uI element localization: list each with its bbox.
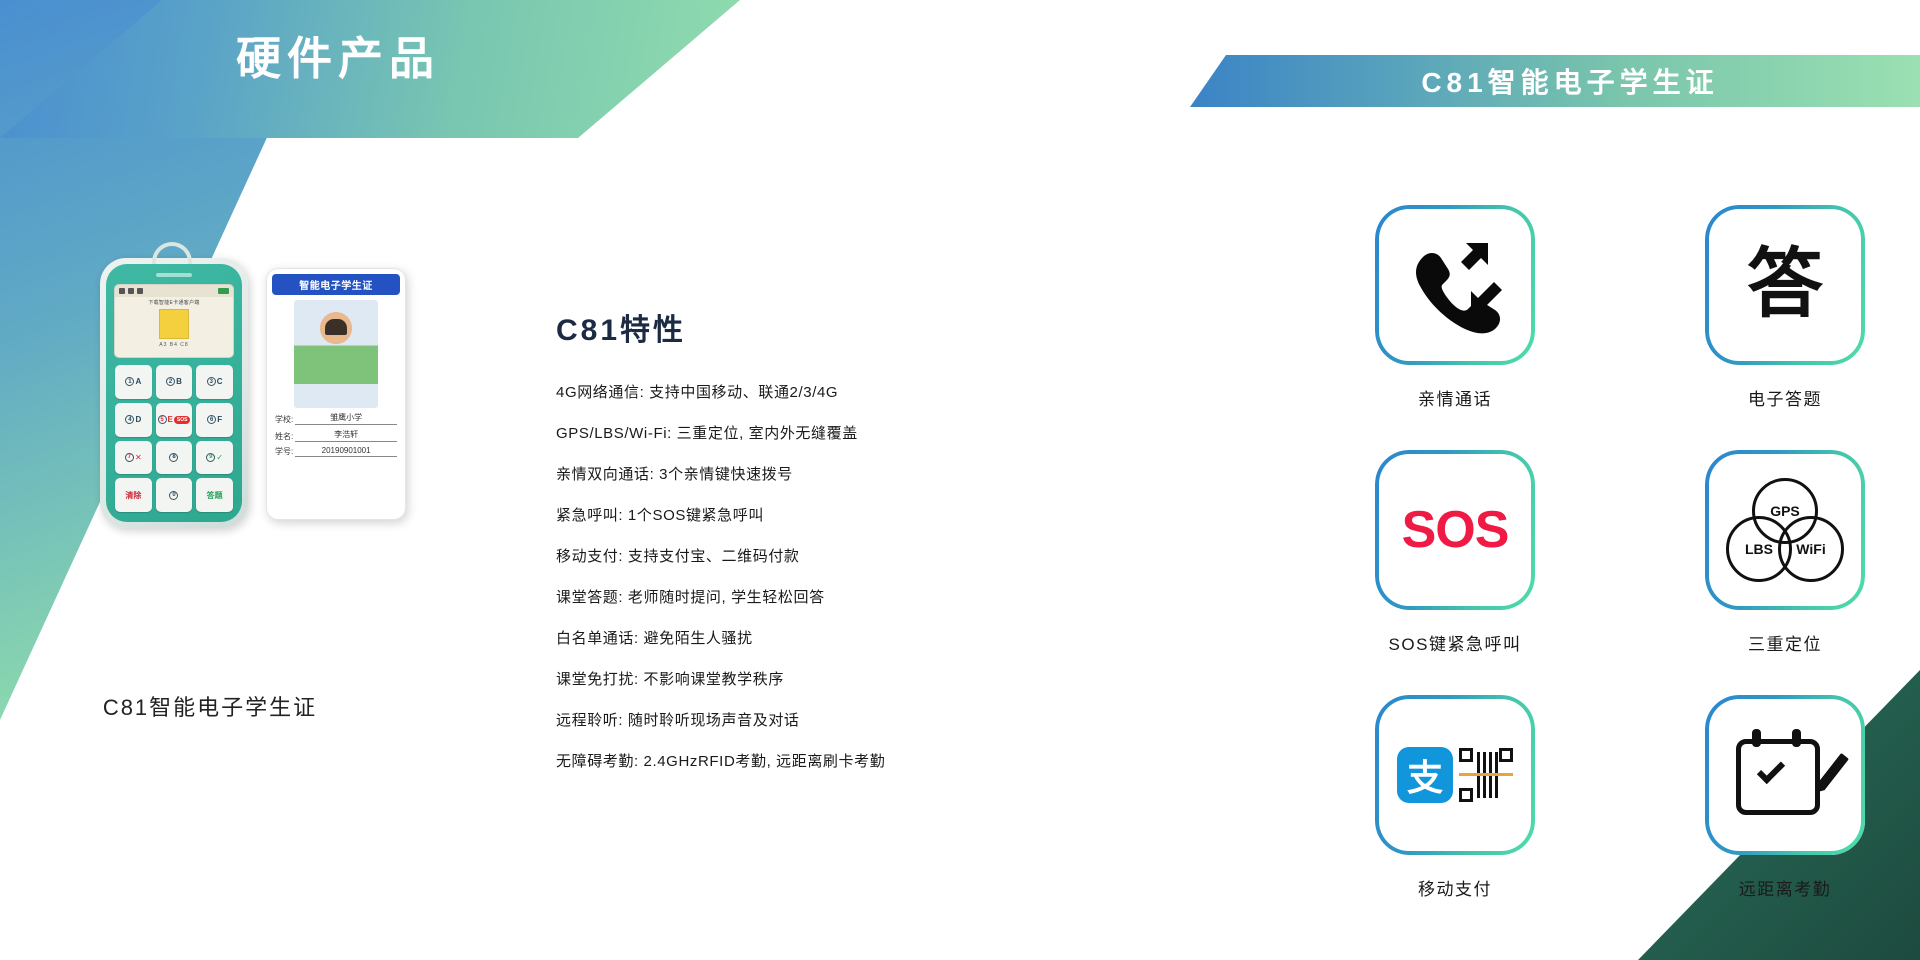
speaker-grill (156, 273, 192, 277)
key-2[interactable]: 2B (156, 365, 193, 399)
mobile-payment-icon: 支 (1397, 747, 1513, 803)
feature-icon-grid: 亲情通话 答 电子答题 SOS SOS键紧急呼叫 GPS LBS WiFi 三重… (1290, 205, 1920, 940)
signal-icon (119, 288, 125, 294)
icon-card[interactable]: SOS (1375, 450, 1535, 610)
icon-card[interactable]: 支 (1375, 695, 1535, 855)
phone-call-icon (1403, 235, 1507, 335)
icon-card[interactable]: GPS LBS WiFi (1705, 450, 1865, 610)
battery-icon (218, 288, 229, 294)
feature-item: 白名单通话: 避免陌生人骚扰 (556, 631, 1016, 646)
screen-caption: 下载智能E卡通客户端 (115, 299, 233, 306)
triple-location-icon: GPS LBS WiFi (1726, 478, 1844, 582)
key-8[interactable]: 8 (156, 441, 193, 475)
icon-cell-payment[interactable]: 支 移动支付 (1290, 695, 1620, 940)
features-title: C81特性 (556, 305, 1016, 349)
venn-wifi: WiFi (1778, 516, 1844, 582)
id-card-row-school: 学校: 雏鹰小学 (275, 412, 397, 425)
key-9[interactable]: 9✓ (196, 441, 233, 475)
feature-item: 4G网络通信: 支持中国移动、联通2/3/4G (556, 385, 1016, 400)
screen-status-bar (115, 285, 233, 297)
icon-label: 三重定位 (1748, 630, 1822, 655)
key-6[interactable]: 6F (196, 403, 233, 437)
key-5-sos[interactable]: 5ESOS (156, 403, 193, 437)
feature-item: 课堂答题: 老师随时提问, 学生轻松回答 (556, 590, 1016, 605)
remote-attendance-icon (1736, 729, 1834, 821)
qr-scan-icon (1459, 748, 1513, 802)
name-label: 姓名: (275, 431, 293, 442)
key-7[interactable]: 7✕ (115, 441, 152, 475)
sos-icon: SOS (1402, 504, 1509, 556)
qr-code-icon (159, 309, 189, 339)
feature-item: 亲情双向通话: 3个亲情键快速拨号 (556, 467, 1016, 482)
phone-keypad: 1A 2B 3C 4D 5ESOS 6F 7✕ 8 9✓ 清除 0 答题 (114, 363, 234, 514)
key-0[interactable]: 0 (156, 478, 193, 512)
feature-item: 远程聆听: 随时聆听现场声音及对话 (556, 713, 1016, 728)
key-answer[interactable]: 答题 (196, 478, 233, 512)
number-label: 学号: (275, 446, 293, 457)
icon-card[interactable] (1375, 205, 1535, 365)
icon-cell-location[interactable]: GPS LBS WiFi 三重定位 (1620, 450, 1920, 695)
answer-question-icon: 答 (1747, 247, 1823, 323)
school-label: 学校: (275, 414, 293, 425)
device-phone: 下载智能E卡通客户端 A3 B4 C8 1A 2B 3C 4D 5ESOS 6F… (100, 258, 248, 528)
feature-item: 紧急呼叫: 1个SOS键紧急呼叫 (556, 508, 1016, 523)
phone-body: 下载智能E卡通客户端 A3 B4 C8 1A 2B 3C 4D 5ESOS 6F… (106, 264, 242, 522)
icon-cell-attendance[interactable]: 远距离考勤 (1620, 695, 1920, 940)
icon-cell-family-call[interactable]: 亲情通话 (1290, 205, 1620, 450)
screen-footer: A3 B4 C8 (115, 342, 233, 348)
student-id-card: 智能电子学生证 学校: 雏鹰小学 姓名: 李浩轩 学号: 20190901001 (266, 268, 406, 520)
page-title: 硬件产品 (236, 36, 440, 81)
icon-label: 电子答题 (1748, 385, 1822, 410)
home-icon (137, 288, 143, 294)
school-value: 雏鹰小学 (295, 412, 397, 425)
feature-item: GPS/LBS/Wi-Fi: 三重定位, 室内外无缝覆盖 (556, 426, 1016, 441)
feature-item: 移动支付: 支持支付宝、二维码付款 (556, 549, 1016, 564)
key-1[interactable]: 1A (115, 365, 152, 399)
name-value: 李浩轩 (295, 429, 397, 442)
key-clear[interactable]: 清除 (115, 478, 152, 512)
lanyard-loop (152, 242, 192, 264)
icon-label: SOS键紧急呼叫 (1389, 630, 1522, 655)
icon-label: 移动支付 (1418, 875, 1492, 900)
phone-screen: 下载智能E卡通客户端 A3 B4 C8 (114, 284, 234, 358)
device-photo-group: 下载智能E卡通客户端 A3 B4 C8 1A 2B 3C 4D 5ESOS 6F… (92, 240, 422, 540)
alipay-icon: 支 (1397, 747, 1453, 803)
section-banner: C81智能电子学生证 (1190, 55, 1920, 107)
icon-label: 远距离考勤 (1739, 875, 1832, 900)
id-card-row-name: 姓名: 李浩轩 (275, 429, 397, 442)
device-caption: C81智能电子学生证 (40, 690, 380, 722)
id-card-header: 智能电子学生证 (272, 274, 400, 295)
icon-card[interactable] (1705, 695, 1865, 855)
feature-item: 无障碍考勤: 2.4GHzRFID考勤, 远距离刷卡考勤 (556, 754, 1016, 769)
icon-card[interactable]: 答 (1705, 205, 1865, 365)
id-card-row-number: 学号: 20190901001 (275, 446, 397, 457)
number-value: 20190901001 (295, 446, 397, 457)
student-photo (294, 300, 378, 408)
bell-icon (128, 288, 134, 294)
key-4[interactable]: 4D (115, 403, 152, 437)
icon-cell-answer[interactable]: 答 电子答题 (1620, 205, 1920, 450)
feature-item: 课堂免打扰: 不影响课堂教学秩序 (556, 672, 1016, 687)
icon-label: 亲情通话 (1418, 385, 1492, 410)
banner-title: C81智能电子学生证 (1391, 61, 1718, 101)
features-section: C81特性 4G网络通信: 支持中国移动、联通2/3/4G GPS/LBS/Wi… (556, 305, 1016, 795)
key-3[interactable]: 3C (196, 365, 233, 399)
icon-cell-sos[interactable]: SOS SOS键紧急呼叫 (1290, 450, 1620, 695)
